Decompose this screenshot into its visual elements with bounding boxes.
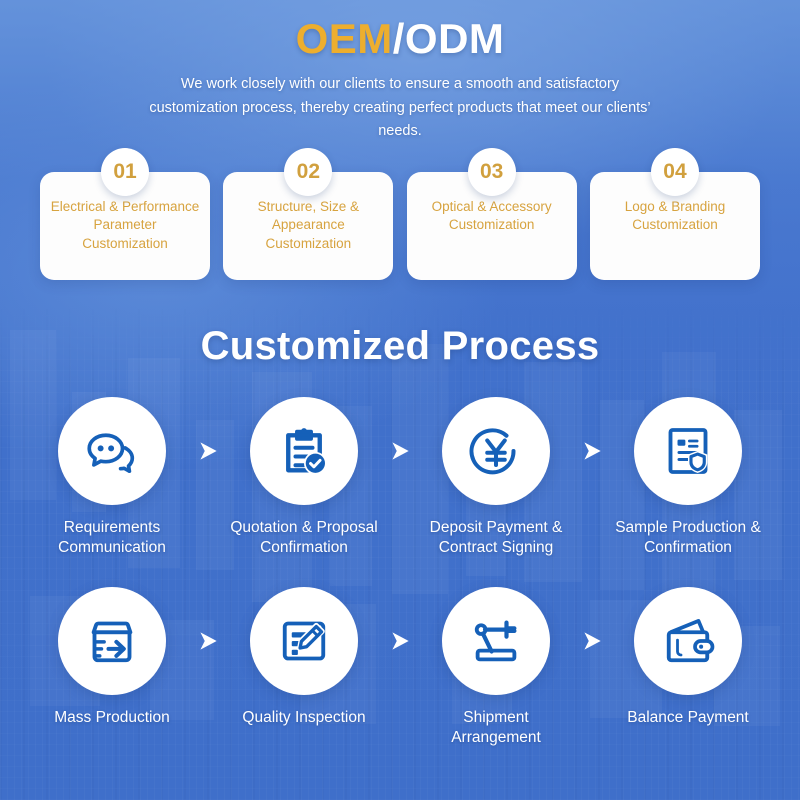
process-step-mass-production[interactable]: Mass Production (33, 587, 191, 728)
chevron-right-icon (387, 628, 413, 654)
card-label: Electrical & Performance Parameter Custo… (50, 198, 200, 253)
step-label: Requirements Communication (33, 518, 191, 558)
wallet-icon (660, 613, 716, 669)
card-number-badge: 01 (101, 148, 149, 196)
chevron-right-icon (195, 628, 221, 654)
step-icon-circle (634, 397, 742, 505)
package-arrow-icon (84, 613, 140, 669)
chevron-right-icon (579, 438, 605, 464)
robot-arm-icon (468, 613, 524, 669)
chevron-right-icon (579, 628, 605, 654)
chevron-right-icon (195, 438, 221, 464)
chat-bubbles-icon (84, 423, 140, 479)
card-03[interactable]: 03 Optical & Accessory Customization (407, 172, 577, 280)
process-arrow (575, 587, 609, 695)
process-step-shipment-arrangement[interactable]: Shipment Arrangement (417, 587, 575, 748)
process-row-1: Requirements Communication (0, 397, 800, 558)
page-title-odm: ODM (405, 15, 505, 62)
process-arrow (575, 397, 609, 505)
step-icon-circle (58, 587, 166, 695)
clipboard-check-icon (276, 423, 332, 479)
card-01[interactable]: 01 Electrical & Performance Parameter Cu… (40, 172, 210, 280)
step-icon-circle (442, 397, 550, 505)
step-label: Sample Production & Confirmation (609, 518, 767, 558)
process-step-requirements-communication[interactable]: Requirements Communication (33, 397, 191, 558)
step-label: Shipment Arrangement (417, 708, 575, 748)
step-icon-circle (634, 587, 742, 695)
step-icon-circle (250, 397, 358, 505)
step-label: Deposit Payment & Contract Signing (417, 518, 575, 558)
card-label: Structure, Size & Appearance Customizati… (233, 198, 383, 253)
process-step-quality-inspection[interactable]: Quality Inspection (225, 587, 383, 728)
page-subtitle: We work closely with our clients to ensu… (140, 73, 660, 143)
process-arrow (383, 587, 417, 695)
page-title-slash: / (393, 15, 405, 62)
process-step-sample-production[interactable]: Sample Production & Confirmation (609, 397, 767, 558)
page-title-oem: OEM (296, 15, 393, 62)
process-step-deposit-payment[interactable]: Deposit Payment & Contract Signing (417, 397, 575, 558)
process-step-balance-payment[interactable]: Balance Payment (609, 587, 767, 728)
chevron-right-icon (387, 438, 413, 464)
document-shield-icon (660, 423, 716, 479)
card-02[interactable]: 02 Structure, Size & Appearance Customiz… (223, 172, 393, 280)
process-arrow (191, 587, 225, 695)
step-label: Quality Inspection (242, 708, 365, 728)
page-root: OEM/ODM We work closely with our clients… (0, 0, 800, 800)
card-label: Optical & Accessory Customization (417, 198, 567, 235)
yuan-coin-icon (468, 423, 524, 479)
card-04[interactable]: 04 Logo & Branding Customization (590, 172, 760, 280)
step-label: Mass Production (54, 708, 169, 728)
process-arrow (383, 397, 417, 505)
form-pencil-icon (276, 613, 332, 669)
process-step-quotation-proposal[interactable]: Quotation & Proposal Confirmation (225, 397, 383, 558)
section-title: Customized Process (0, 324, 800, 369)
process-arrow (191, 397, 225, 505)
card-number-badge: 02 (284, 148, 332, 196)
step-icon-circle (442, 587, 550, 695)
process-row-2: Mass Production Quality Inspection (0, 587, 800, 748)
card-number-badge: 03 (468, 148, 516, 196)
card-label: Logo & Branding Customization (600, 198, 750, 235)
step-label: Quotation & Proposal Confirmation (225, 518, 383, 558)
customization-cards: 01 Electrical & Performance Parameter Cu… (0, 144, 800, 280)
step-label: Balance Payment (627, 708, 749, 728)
step-icon-circle (58, 397, 166, 505)
card-number-badge: 04 (651, 148, 699, 196)
page-title: OEM/ODM (0, 0, 800, 61)
step-icon-circle (250, 587, 358, 695)
